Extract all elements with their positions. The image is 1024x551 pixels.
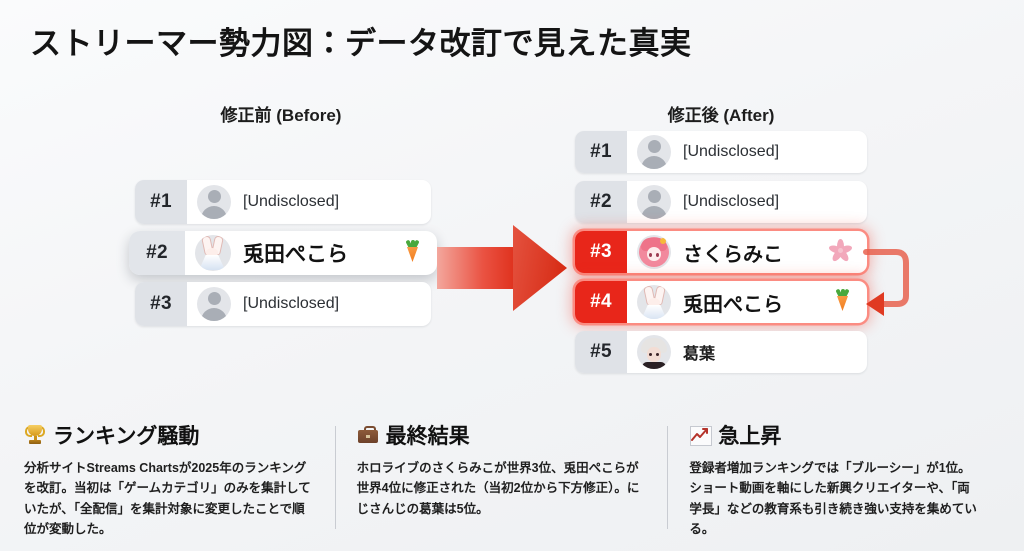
sakura-miko-avatar bbox=[637, 235, 671, 269]
curved-down-left-arrow-icon bbox=[862, 246, 918, 324]
carrot-icon bbox=[834, 289, 851, 315]
card-body: ホロライブのさくらみこが世界3位、兎田ぺこらが世界4位に修正された（当初2位から… bbox=[357, 458, 648, 519]
rank-badge: #3 bbox=[575, 231, 627, 273]
card-header: 最終結果 bbox=[357, 420, 648, 450]
sakura-icon bbox=[828, 239, 851, 266]
rank-badge: #1 bbox=[575, 131, 627, 173]
before-rank-list: #1 [Undisclosed] #2 兎田ぺこら #3 [Undisclose… bbox=[135, 180, 431, 333]
list-item[interactable]: #1 [Undisclosed] bbox=[135, 180, 431, 224]
streamer-name: 兎田ぺこら bbox=[683, 288, 834, 317]
briefcase-icon bbox=[357, 424, 379, 446]
after-rank-list: #1 [Undisclosed] #2 [Undisclosed] #3 さくら… bbox=[575, 131, 867, 381]
streamer-name: [Undisclosed] bbox=[243, 193, 415, 211]
card-ranking-controversy: ランキング騒動 分析サイトStreams Chartsが2025年のランキングを… bbox=[24, 420, 335, 539]
kuzuha-avatar bbox=[637, 335, 671, 369]
rank-badge: #4 bbox=[575, 281, 627, 323]
rank-badge: #5 bbox=[575, 331, 627, 373]
list-item-highlighted[interactable]: #3 さくらみこ bbox=[575, 231, 867, 273]
card-rapid-rise: 急上昇 登録者増加ランキングでは「ブルーシー」が1位。ショート動画を軸にした新興… bbox=[667, 420, 1000, 539]
streamer-name: [Undisclosed] bbox=[243, 295, 415, 313]
carrot-icon bbox=[404, 240, 421, 266]
chart-increasing-icon bbox=[689, 424, 711, 446]
card-title: 急上昇 bbox=[718, 420, 781, 450]
list-item[interactable]: #2 [Undisclosed] bbox=[575, 181, 867, 223]
card-title: ランキング騒動 bbox=[53, 420, 199, 450]
rank-badge: #2 bbox=[575, 181, 627, 223]
card-title: 最終結果 bbox=[386, 420, 470, 450]
trophy-icon bbox=[24, 424, 46, 446]
list-item[interactable]: #1 [Undisclosed] bbox=[575, 131, 867, 173]
list-item[interactable]: #3 [Undisclosed] bbox=[135, 282, 431, 326]
card-header: ランキング騒動 bbox=[24, 420, 315, 450]
rank-badge: #1 bbox=[135, 180, 187, 224]
card-body: 登録者増加ランキングでは「ブルーシー」が1位。ショート動画を軸にした新興クリエイ… bbox=[689, 458, 980, 539]
card-body: 分析サイトStreams Chartsが2025年のランキングを改訂。当初は「ゲ… bbox=[24, 458, 315, 539]
streamer-name: さくらみこ bbox=[683, 238, 828, 267]
card-final-result: 最終結果 ホロライブのさくらみこが世界3位、兎田ぺこらが世界4位に修正された（当… bbox=[335, 420, 668, 539]
streamer-name: 兎田ぺこら bbox=[243, 238, 404, 268]
undisclosed-avatar bbox=[197, 185, 231, 219]
page-title: ストリーマー勢力図：データ改訂で見えた真実 bbox=[30, 18, 692, 63]
streamer-name: [Undisclosed] bbox=[683, 143, 851, 161]
pekora-avatar bbox=[195, 235, 231, 271]
undisclosed-avatar bbox=[637, 135, 671, 169]
card-header: 急上昇 bbox=[689, 420, 980, 450]
undisclosed-avatar bbox=[197, 287, 231, 321]
streamer-name: 葛葉 bbox=[683, 340, 851, 364]
streamer-name: [Undisclosed] bbox=[683, 193, 851, 211]
undisclosed-avatar bbox=[637, 185, 671, 219]
before-column-heading: 修正前 (Before) bbox=[135, 101, 427, 126]
rank-badge: #2 bbox=[129, 231, 185, 275]
slide-canvas: ストリーマー勢力図：データ改訂で見えた真実 修正前 (Before) #1 [U… bbox=[0, 0, 1024, 551]
list-item[interactable]: #5 葛葉 bbox=[575, 331, 867, 373]
after-column-heading: 修正後 (After) bbox=[575, 101, 867, 126]
summary-cards: ランキング騒動 分析サイトStreams Chartsが2025年のランキングを… bbox=[24, 420, 1000, 539]
right-arrow-icon bbox=[437, 225, 567, 311]
list-item-highlighted[interactable]: #4 兎田ぺこら bbox=[575, 281, 867, 323]
list-item-featured[interactable]: #2 兎田ぺこら bbox=[129, 231, 437, 275]
rank-badge: #3 bbox=[135, 282, 187, 326]
pekora-avatar bbox=[637, 285, 671, 319]
